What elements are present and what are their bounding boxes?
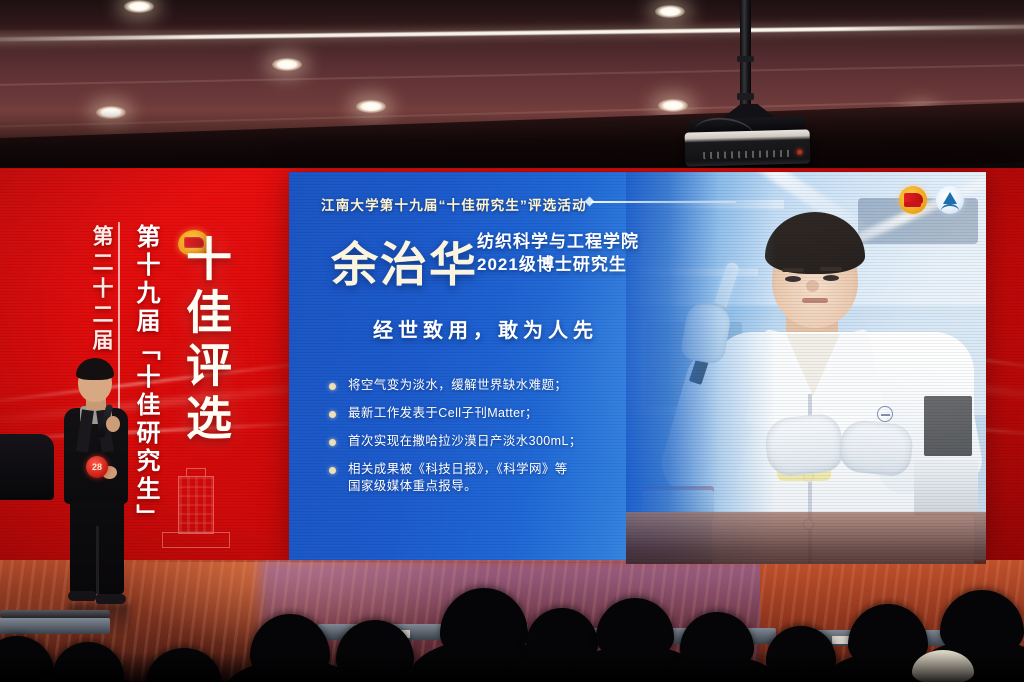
slide-logos: [899, 186, 964, 214]
presenter-hand: [106, 416, 120, 432]
auditorium-scene: 第二十二届 第十九届「十佳研究生」 十佳评选: [0, 0, 1024, 682]
student-name: 余治华: [331, 226, 478, 295]
banner-headline: 十佳评选: [172, 235, 238, 447]
student-department: 纺织科学与工程学院 2021级博士研究生: [477, 230, 639, 276]
projector-status-led-icon: [797, 150, 802, 155]
jiangnan-university-logo-icon: [936, 186, 964, 214]
list-item: 首次实现在撒哈拉沙漠日产淡水300mL；: [329, 433, 629, 450]
researcher-photo: [626, 172, 986, 564]
slide-motto: 经世致用，敢为人先: [373, 314, 598, 343]
achievement-list: 将空气变为淡水，缓解世界缺水难题； 最新工作发表于Cell子刊Matter； 首…: [329, 377, 629, 506]
contestant-number-badge: 28: [86, 456, 108, 478]
ceiling-projector: [655, 0, 855, 175]
lab-monitor: [924, 396, 972, 456]
coat-logo-mark: [877, 406, 893, 422]
gloved-hand-right-outer: [837, 418, 914, 477]
list-item: 相关成果被《科技日报》，《科学网》等 国家级媒体重点报导。: [329, 461, 629, 495]
bullet-line-1: 相关成果被《科技日报》，《科学网》等: [348, 462, 568, 476]
downlight-icon: [272, 58, 302, 71]
building-base: [162, 532, 230, 548]
department-line-2: 2021级博士研究生: [477, 253, 639, 276]
projector-pole-joint: [737, 56, 754, 62]
header-rule: [591, 201, 736, 203]
lab-instrument: [914, 460, 978, 516]
researcher-eye: [785, 276, 801, 282]
audience-desk: [0, 618, 110, 634]
bullet-line-1: 最新工作发表于Cell子刊Matter；: [348, 406, 538, 420]
university-building-icon: [160, 468, 232, 560]
list-item: 最新工作发表于Cell子刊Matter；: [329, 405, 629, 422]
researcher-nose: [806, 280, 819, 292]
department-line-1: 纺织科学与工程学院: [477, 230, 639, 253]
ceiling-shadow: [0, 110, 1024, 172]
projector-vents: [703, 150, 793, 159]
projector-pole: [740, 0, 751, 106]
bottom-vignette: [0, 652, 1024, 682]
presentation-slide: 江南大学第十九届“十佳研究生”评选活动 余治华 纺织科学与工程学院 2021级博…: [289, 172, 986, 564]
downlight-icon: [124, 0, 154, 13]
gloved-hand-right: [763, 412, 845, 478]
list-item: 将空气变为淡水，缓解世界缺水难题；: [329, 377, 629, 394]
lab-bench-gloss: [626, 512, 986, 564]
researcher-eyebrow: [820, 267, 842, 271]
bullet-line-2: 国家级媒体重点报导。: [348, 478, 629, 495]
stage-equipment-box: [0, 434, 54, 500]
presenter-hair: [76, 358, 114, 380]
ceiling-seam: [0, 64, 1024, 87]
researcher-mouth: [802, 298, 828, 303]
communist-youth-league-logo-icon: [899, 186, 927, 214]
photo-blue-gradient-fade: [626, 172, 776, 564]
ceiling: [0, 0, 1024, 172]
building-tower: [178, 476, 214, 534]
projector-pole-joint: [737, 93, 754, 100]
bullet-line-1: 首次实现在撒哈拉沙漠日产淡水300mL；: [348, 434, 582, 448]
researcher-eyebrow: [782, 268, 804, 272]
researcher-eye: [823, 275, 839, 281]
bullet-line-1: 将空气变为淡水，缓解世界缺水难题；: [348, 378, 567, 392]
slide-header-title: 江南大学第十九届“十佳研究生”评选活动: [321, 194, 587, 214]
audience: [0, 566, 1024, 682]
banner-edition-outer: 第二十二届: [86, 225, 116, 355]
projector-body: [685, 129, 811, 166]
